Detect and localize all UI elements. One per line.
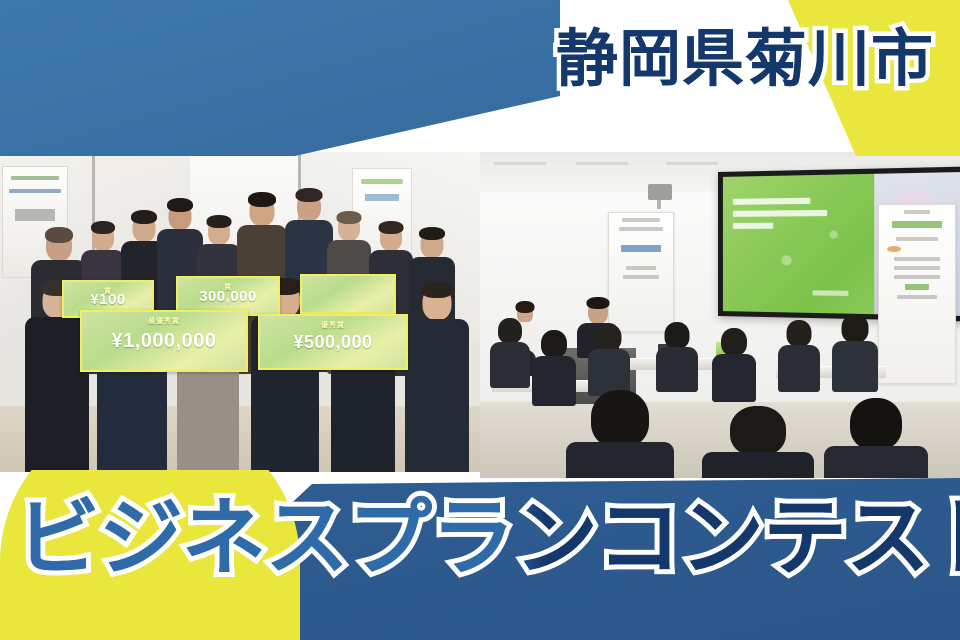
foreground-person-3 — [824, 398, 928, 478]
foreground-person-2 — [702, 406, 814, 478]
check-title: 賞 — [64, 286, 152, 296]
check-amount: ¥1,000,000 — [111, 330, 216, 353]
check-amount: ¥500,000 — [293, 332, 372, 353]
audience-5 — [712, 328, 756, 402]
foreground-person-1 — [566, 390, 674, 478]
ceiling-light-2 — [576, 162, 628, 165]
check-title: 優秀賞 — [260, 320, 406, 330]
audience-4 — [656, 322, 698, 392]
check-1000000: 最優秀賞 ¥1,000,000 — [80, 310, 248, 372]
check-title: 最優秀賞 — [82, 316, 246, 326]
headline-top-outline: 静岡県菊川市 — [556, 28, 934, 90]
check-extra — [300, 274, 396, 314]
person-front-6 — [404, 286, 470, 472]
projector-icon — [648, 184, 672, 200]
check-500000: 優秀賞 ¥500,000 — [258, 314, 408, 370]
audience-7 — [832, 314, 878, 392]
photo-band: 賞 ¥100 賞 300,000 最優秀賞 ¥1,000,000 優秀賞 ¥50… — [0, 152, 960, 478]
check-title: 賞 — [178, 282, 278, 292]
audience-6 — [778, 320, 820, 392]
audience-1 — [490, 318, 530, 388]
photo-award-ceremony: 賞 ¥100 賞 300,000 最優秀賞 ¥1,000,000 優秀賞 ¥50… — [0, 152, 480, 472]
headline-bottom-outline: ビジネスプランコンテスト — [16, 496, 960, 580]
decor-top-blue-shape — [0, 0, 560, 156]
ceiling-light-1 — [494, 162, 546, 165]
banner-canvas: 賞 ¥100 賞 300,000 最優秀賞 ¥1,000,000 優秀賞 ¥50… — [0, 0, 960, 640]
photo-seminar-room — [480, 152, 960, 478]
audience-3 — [588, 324, 630, 396]
ceiling-light-3 — [666, 162, 718, 165]
rollup-banner-right — [878, 204, 956, 384]
